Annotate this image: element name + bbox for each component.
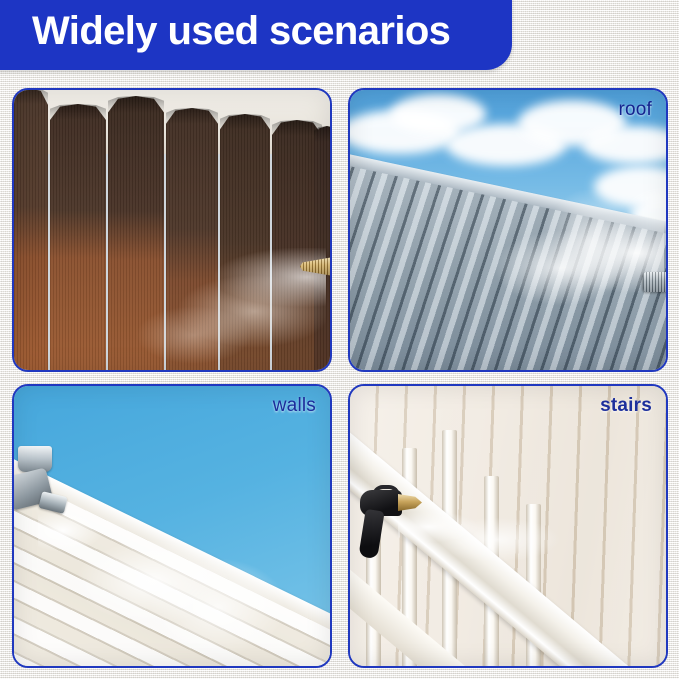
scenario-card-stairs[interactable]: stairs bbox=[348, 384, 668, 668]
fence-boards-group bbox=[14, 90, 330, 370]
water-spray-mist bbox=[434, 190, 664, 340]
scenario-card-walls[interactable]: walls bbox=[12, 384, 332, 668]
wood-grain-texture bbox=[50, 104, 106, 370]
fence-board bbox=[108, 96, 164, 370]
fence-board bbox=[314, 126, 330, 370]
fence-board bbox=[220, 114, 270, 370]
fence-board bbox=[166, 108, 218, 370]
panel-label-stairs: stairs bbox=[600, 395, 652, 417]
product-infographic-poster: Widely used scenarios bbox=[0, 0, 679, 679]
fence-board-face bbox=[108, 96, 164, 370]
panel-label-walls: walls bbox=[273, 395, 316, 417]
page-title: Widely used scenarios bbox=[32, 8, 450, 54]
spray-gun-tip bbox=[38, 491, 67, 514]
wood-grain-texture bbox=[166, 108, 218, 370]
water-spray-mist bbox=[398, 498, 568, 578]
stairs-photo bbox=[350, 386, 666, 666]
water-spray-mist bbox=[38, 508, 288, 666]
wood-grain-texture bbox=[14, 90, 48, 370]
wood-grain-texture bbox=[108, 96, 164, 370]
spray-gun-cup bbox=[18, 446, 52, 472]
scenario-card-roof[interactable]: roof bbox=[348, 88, 668, 372]
header-banner: Widely used scenarios bbox=[0, 0, 512, 70]
fence-board bbox=[50, 104, 106, 370]
scenario-card-fence[interactable] bbox=[12, 88, 332, 372]
wood-grain-texture bbox=[220, 114, 270, 370]
spray-gun-handle bbox=[358, 509, 384, 559]
wood-grain-texture bbox=[314, 126, 330, 370]
spray-gun-brass-tip bbox=[398, 494, 422, 511]
black-spray-gun-icon bbox=[360, 490, 422, 562]
panel-label-roof: roof bbox=[618, 99, 652, 121]
fence-board-face bbox=[14, 90, 48, 370]
fence-board bbox=[14, 90, 48, 370]
steel-nozzle-icon bbox=[643, 272, 666, 292]
fence-board-face bbox=[314, 126, 330, 370]
roof-photo bbox=[350, 90, 666, 370]
fence-photo bbox=[14, 90, 330, 370]
fence-board-face bbox=[50, 104, 106, 370]
fence-board-face bbox=[220, 114, 270, 370]
silver-spray-gun-icon bbox=[14, 446, 66, 528]
fence-board-face bbox=[166, 108, 218, 370]
walls-photo bbox=[14, 386, 330, 666]
